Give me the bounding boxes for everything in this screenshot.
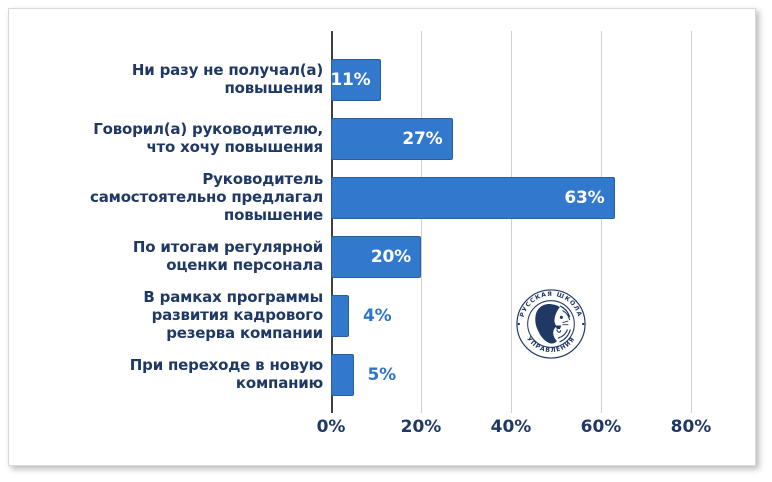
category-label-line: В рамках программы: [23, 289, 323, 307]
bar-rows: 11%27%63%20%4%5%: [331, 31, 691, 413]
tick-label-40%: 40%: [471, 417, 551, 437]
category-label-line: развития кадрового: [23, 307, 323, 325]
bar-value-label: 20%: [331, 236, 411, 278]
tick-label-60%: 60%: [561, 417, 641, 437]
bar-row: 4%: [331, 295, 691, 337]
horizontal-bar-chart: 11%27%63%20%4%5% Ни разу не получал(а)по…: [9, 9, 757, 467]
bar-row: 27%: [331, 118, 691, 160]
bar-row: 20%: [331, 236, 691, 278]
category-label-line: компанию: [23, 375, 323, 393]
chart-page: 11%27%63%20%4%5% Ни разу не получал(а)по…: [0, 0, 772, 482]
gridline-80: [691, 31, 692, 413]
category-label-line: оценки персонала: [23, 257, 323, 275]
tick-label-80%: 80%: [651, 417, 731, 437]
category-label-line: повышения: [23, 80, 323, 98]
category-label-5: В рамках программыразвития кадровогорезе…: [23, 295, 323, 337]
bar-value-label: 5%: [368, 354, 438, 396]
category-label-line: что хочу повышения: [23, 139, 323, 157]
bar-row: 11%: [331, 59, 691, 101]
category-label-line: Говорил(а) руководителю,: [23, 121, 323, 139]
category-label-line: повышение: [23, 207, 323, 225]
russian-school-of-management-logo-icon: РУССКАЯ ШКОЛА УПРАВЛЕНИЯ: [514, 287, 588, 361]
plot-area: 11%27%63%20%4%5%: [331, 31, 691, 413]
bar-row: 63%: [331, 177, 691, 219]
bar-6[interactable]: [331, 354, 354, 396]
bar-5[interactable]: [331, 295, 349, 337]
category-label-6: При переходе в новуюкомпанию: [23, 354, 323, 396]
category-label-line: Руководитель: [23, 171, 323, 189]
category-label-line: резерва компании: [23, 325, 323, 343]
bar-value-label: 4%: [363, 295, 433, 337]
bar-value-label: 63%: [331, 177, 605, 219]
bar-value-label: 11%: [331, 59, 371, 101]
category-label-line: самостоятельно предлагал: [23, 189, 323, 207]
category-label-line: Ни разу не получал(а): [23, 62, 323, 80]
tick-label-0%: 0%: [291, 417, 371, 437]
bar-row: 5%: [331, 354, 691, 396]
category-label-line: По итогам регулярной: [23, 239, 323, 257]
category-label-line: При переходе в новую: [23, 357, 323, 375]
tick-label-20%: 20%: [381, 417, 461, 437]
category-label-2: Говорил(а) руководителю,что хочу повышен…: [23, 118, 323, 160]
category-label-3: Руководительсамостоятельно предлагалповы…: [23, 177, 323, 219]
category-label-1: Ни разу не получал(а)повышения: [23, 59, 323, 101]
bar-value-label: 27%: [331, 118, 443, 160]
chart-frame: 11%27%63%20%4%5% Ни разу не получал(а)по…: [8, 8, 756, 466]
category-label-4: По итогам регулярнойоценки персонала: [23, 236, 323, 278]
